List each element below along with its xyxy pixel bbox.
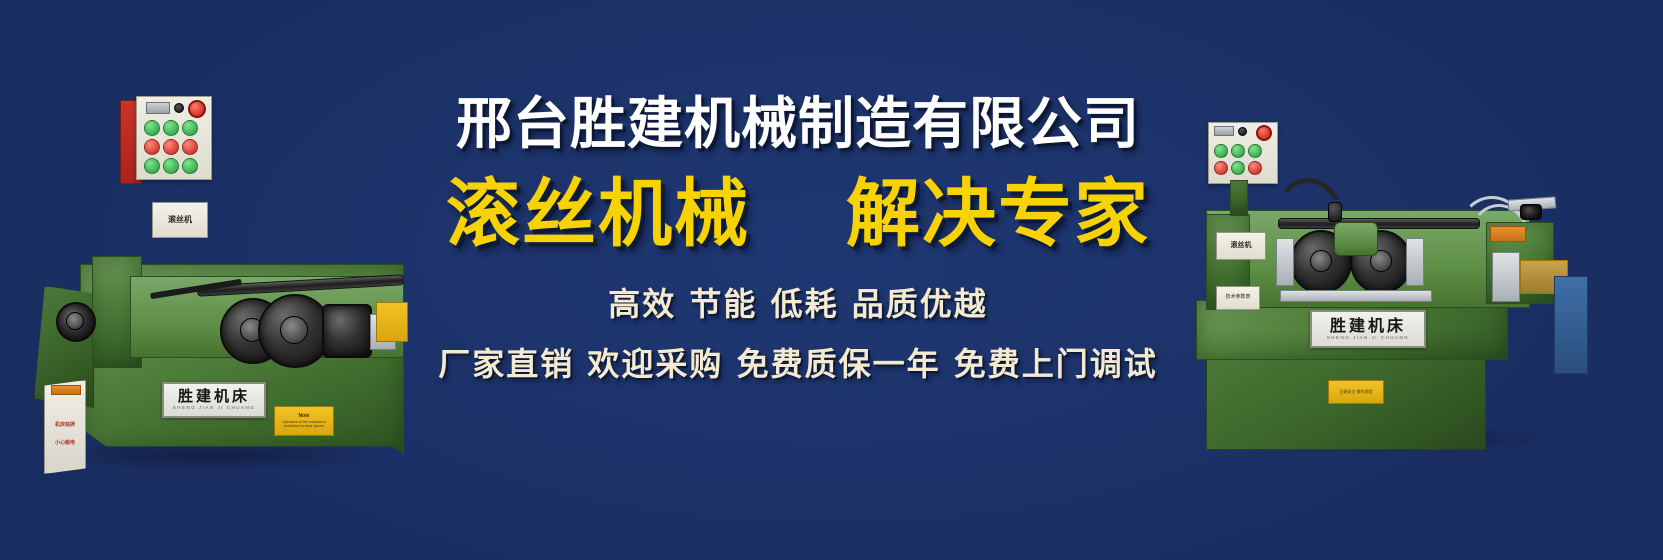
machine-left-cabinet-text-1: 机床铭牌 [45,421,85,428]
machine-left-button-5[interactable] [163,139,179,155]
banner-text-block: 邢台胜建机械制造有限公司 滚丝机械 解决专家 高效 节能 低耗 品质优越 厂家直… [398,96,1198,385]
machine-left-nameplate-pinyin: SHENG JIAN JI CHUANG [173,406,256,411]
machine-right-button-3[interactable] [1248,144,1262,158]
machine-left-button-grid[interactable] [144,120,196,172]
machine-illustration-right: 滚丝机 技术参数表 胜建机床 SHENG JIAN JI CHUANG 注意安全… [1168,118,1588,448]
machine-right-roller-die-1-core [1310,250,1332,272]
machine-left-button-6[interactable] [182,139,198,155]
machine-right-die-carrier-left [1276,238,1294,286]
machine-right-nameplate-pinyin: SHENG JIAN JI CHUANG [1327,336,1410,341]
machine-right-warning-label: 注意安全 操作规程 [1328,380,1384,404]
machine-right-die-carrier-right [1406,238,1424,286]
company-name: 邢台胜建机械制造有限公司 [398,96,1198,155]
machine-left-spec-plate: 滚丝机 [152,202,208,238]
machine-left-warning-label-text: Operation of the machine is prohibited t… [275,420,333,428]
machine-left-cabinet-top-strip [51,385,81,395]
machine-right-button-5[interactable] [1231,161,1245,175]
machine-right-center-drive-housing [1334,222,1378,256]
machine-right-button-2[interactable] [1231,144,1245,158]
machine-left-side-cabinet: 机床铭牌 小心触电 [44,380,86,474]
machine-left-button-2[interactable] [163,120,179,136]
machine-right-spec-plate: 滚丝机 [1216,232,1266,260]
machine-right-parameter-label: 技术参数表 [1216,286,1260,310]
machine-right-terminal-block [1490,226,1526,242]
machine-right-spec-plate-text: 滚丝机 [1231,242,1252,250]
machine-right-nameplate: 胜建机床 SHENG JIAN JI CHUANG [1310,310,1426,348]
machine-right-blue-unit [1554,276,1588,374]
machine-illustration-left: 滚丝机 胜建机床 SHENG JIAN JI CHUANG Note Opera… [22,86,412,466]
machine-right-panel-selector-knob [1238,127,1247,136]
machine-left-button-9[interactable] [182,158,198,174]
promotional-banner: 滚丝机 胜建机床 SHENG JIAN JI CHUANG Note Opera… [0,0,1663,560]
machine-right-panel-stand [1230,180,1248,216]
machine-left-nameplate-cn: 胜建机床 [178,389,250,404]
machine-left-warning-label: Note Operation of the machine is prohibi… [274,406,334,436]
tagline-services: 厂家直销 欢迎采购 免费质保一年 免费上门调试 [398,339,1198,385]
headline-left: 滚丝机械 [446,175,750,253]
machine-right-warning-label-text: 注意安全 操作规程 [1337,390,1374,395]
machine-right-emergency-stop-button[interactable] [1256,125,1272,141]
machine-left-nameplate: 胜建机床 SHENG JIAN JI CHUANG [162,382,266,418]
machine-right-button-4[interactable] [1214,161,1228,175]
machine-left-pulley-core [66,312,84,330]
machine-right-slide-unit [1492,252,1520,302]
machine-left-right-spec-tag-text [392,320,393,323]
machine-right-button-1[interactable] [1214,144,1228,158]
machine-right-button-grid[interactable] [1214,144,1260,173]
headline-row: 滚丝机械 解决专家 [398,175,1198,253]
machine-left-emergency-stop-button[interactable] [188,100,206,118]
machine-left-button-8[interactable] [163,158,179,174]
machine-left-spec-plate-text: 滚丝机 [168,216,192,225]
machine-left-panel-meter [146,102,170,114]
machine-left-cabinet-text-2: 小心触电 [45,439,85,446]
machine-left-button-7[interactable] [144,158,160,174]
machine-right-panel-meter [1214,126,1234,136]
machine-right-parameter-label-text: 技术参数表 [1225,295,1250,301]
machine-left-panel-selector-knob [174,103,184,113]
machine-left-roller-die-2-core [280,316,308,344]
machine-left-button-3[interactable] [182,120,198,136]
machine-left-button-4[interactable] [144,139,160,155]
machine-right-button-6[interactable] [1248,161,1262,175]
machine-left-button-1[interactable] [144,120,160,136]
headline-right: 解决专家 [846,175,1150,253]
machine-right-work-table [1280,290,1432,302]
machine-right-brass-plate-text [1544,275,1545,278]
tagline-features: 高效 节能 低耗 品质优越 [398,279,1198,325]
machine-right-hose-connector [1328,202,1342,222]
machine-right-fixture-wheel [1520,204,1542,220]
machine-left-motor-housing [322,304,372,358]
machine-right-nameplate-cn: 胜建机床 [1330,318,1406,334]
